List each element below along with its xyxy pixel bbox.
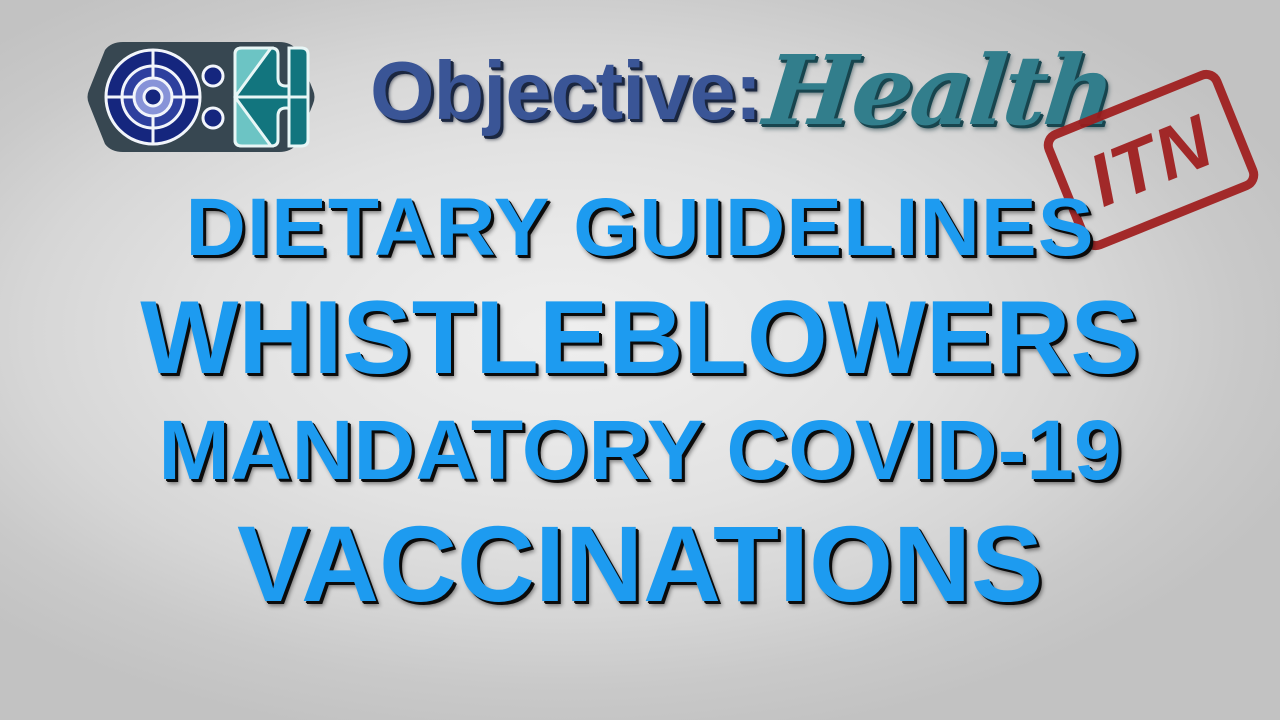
concentric-target-icon	[106, 50, 200, 144]
video-thumbnail: Objective:Health ITN DIETARY GUIDELINES …	[0, 0, 1280, 720]
headline-line-1: DIETARY GUIDELINES	[0, 176, 1280, 280]
objective-health-hexagon-logo	[85, 40, 317, 154]
headline-block: DIETARY GUIDELINES WHISTLEBLOWERS MANDAT…	[0, 176, 1280, 624]
headline-line-2: WHISTLEBLOWERS	[0, 280, 1280, 396]
letter-h-mark	[235, 48, 308, 146]
brand-wordmark: Objective:Health	[370, 36, 1112, 146]
headline-line-4: VACCINATIONS	[0, 504, 1280, 624]
headline-line-3: MANDATORY COVID-19	[0, 396, 1280, 504]
brand-name-primary: Objective:	[370, 36, 761, 146]
